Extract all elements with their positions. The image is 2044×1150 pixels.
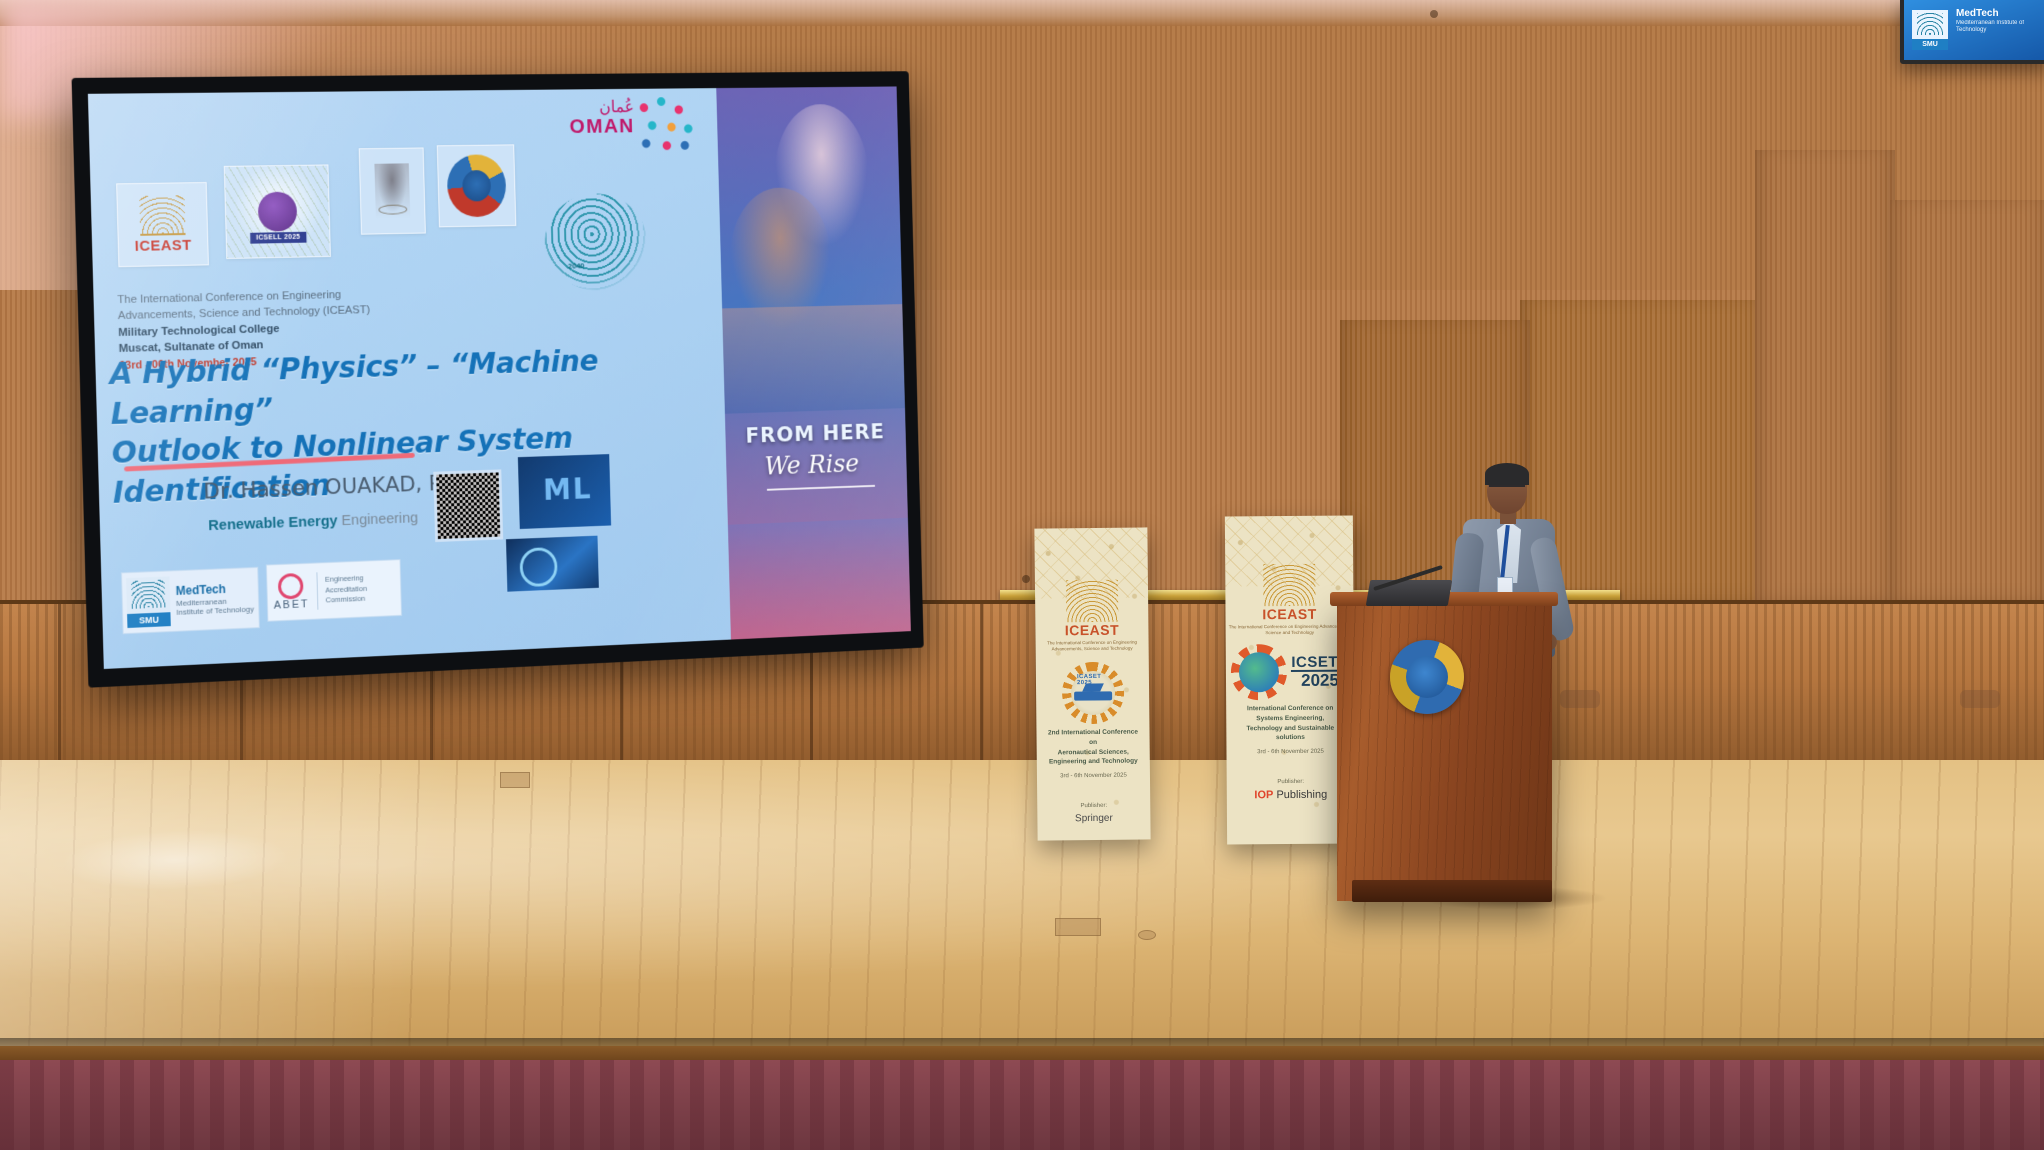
wall-mounted-display: SMU MedTech Mediterranean Institute of T… [1900,0,2044,64]
banner-left-badge-icon: ICASET 2025 [1061,662,1124,725]
secondary-tech-graphic [506,536,599,592]
medtech-tree-icon: SMU [126,576,171,628]
oman-arabic-wordmark: عُمان [513,98,634,116]
oman-vision-2040-label: 2040 [568,261,585,270]
blurred-seat-2 [1960,690,2000,708]
abet-wordmark: ABET [274,598,310,611]
banner-left-desc-3: Engineering and Technology [1045,757,1142,768]
airplane-icon [1074,691,1112,700]
floor-access-plate-1 [1055,918,1101,936]
banner-left-org: ICEAST [1035,621,1148,638]
abet-line-3: Commission [325,594,367,606]
medtech-sub-2: Institute of Technology [176,605,254,618]
banner-right-gear-icon [1231,644,1287,700]
banner-left-publisher: Springer [1037,813,1150,825]
banner-right-publisher-bold: IOP [1254,789,1273,801]
banner-left-iceast-icon [1065,580,1117,623]
wall-display-smu-icon: SMU [1912,10,1948,50]
abet-logo: ABET Engineering Accreditation Commissio… [266,559,402,622]
mtc-crest-logo [437,144,517,227]
wall-display-mark: SMU [1912,39,1948,50]
khanjar-emblem-icon [374,163,410,218]
oman-english-wordmark: OMAN [513,115,635,140]
photo-tagline-underline [767,485,875,491]
projection-screen-frame: ICEAST ICSELL 2025 عُمان O [72,71,924,687]
ceiling-fixture-dot [1430,10,1438,18]
department-bold: Renewable Energy [208,512,338,534]
laptop [1366,580,1453,606]
abet-divider [316,572,318,609]
photo-tagline-top: FROM HERE [745,420,885,448]
banner-right-desc-1: International Conference on [1234,704,1346,715]
banner-left-dates: 3rd - 6th November 2025 [1037,773,1150,780]
icsell-emblem-icon [258,192,298,232]
photo-tagline-bottom: We Rise [764,449,859,481]
qr-code [433,469,503,542]
photo-workbench [722,304,905,414]
banner-icaset: ICEAST The International Conference on E… [1034,527,1150,840]
banner-right-org-sub: The International Conference on Engineer… [1226,624,1354,637]
speaker-hair [1485,463,1529,485]
presenter-department: Renewable Energy Engineering [208,509,418,534]
banner-right-publisher-label: Publisher: [1227,779,1355,786]
icsell-logo: ICSELL 2025 [224,164,331,259]
oman-national-emblem-logo [359,147,426,234]
banner-right-dates: 3rd - 6th November 2025 [1226,749,1354,756]
oman-confetti-icon [632,94,698,154]
ml-circuit-graphic [518,454,611,529]
banner-left-publisher-label: Publisher: [1037,803,1150,810]
abet-ring-icon [278,573,304,600]
icsell-wordmark: ICSELL 2025 [250,232,306,244]
banner-right-publisher-rest: Publishing [1273,789,1327,801]
slide-logo-row: ICEAST ICSELL 2025 [115,141,744,267]
wall-panel-step-b [1890,200,2044,620]
medtech-logo: SMU MedTech Mediterranean Institute of T… [121,567,260,634]
oman-vision-2040-icon [544,193,649,292]
glasses-icon [1489,485,1525,493]
floor-access-plate-2 [1138,930,1156,940]
banner-right-desc-3: Technology and Sustainable solutions [1234,723,1346,743]
house-carpet [0,1060,2044,1150]
wall-display-sub: Mediterranean Institute of Technology [1956,20,2044,34]
podium-crest-emblem [1390,640,1464,714]
slide-photo-panel: FROM HERE We Rise [716,86,911,639]
wall-fixture-dot-1 [1022,575,1030,583]
banner-left-org-sub: The International Conference on Engineer… [1036,639,1149,652]
banner-icsets: ICEAST The International Conference on E… [1225,516,1355,845]
wall-display-title: MedTech [1956,8,2044,20]
banner-right-iceast-icon [1263,564,1315,606]
department-rest: Engineering [337,509,418,529]
floor-access-plate-3 [500,772,530,788]
stage-floor-reflection [0,760,2044,1060]
banner-left-badge-label: ICASET 2025 [1077,674,1108,686]
floor-light-patch [59,826,291,894]
medtech-mark-label: SMU [127,612,171,628]
iceast-wordmark: ICEAST [134,238,191,254]
iceast-logo: ICEAST [116,182,209,267]
photo-lower-gradient [728,518,911,640]
iceast-globe-icon [139,195,185,236]
banner-right-org: ICEAST [1225,606,1353,623]
projection-screen: ICEAST ICSELL 2025 عُمان O [88,86,911,669]
mtc-crest-icon [447,154,507,217]
banner-left-desc-1: 2nd International Conference on [1044,728,1141,749]
wall-panel-step-a [1755,150,1895,620]
podium-base [1352,880,1552,902]
oman-brand-logo: عُمان OMAN [513,98,636,167]
conference-stage-photo: ICEAST ICSELL 2025 عُمان O [0,0,2044,1150]
